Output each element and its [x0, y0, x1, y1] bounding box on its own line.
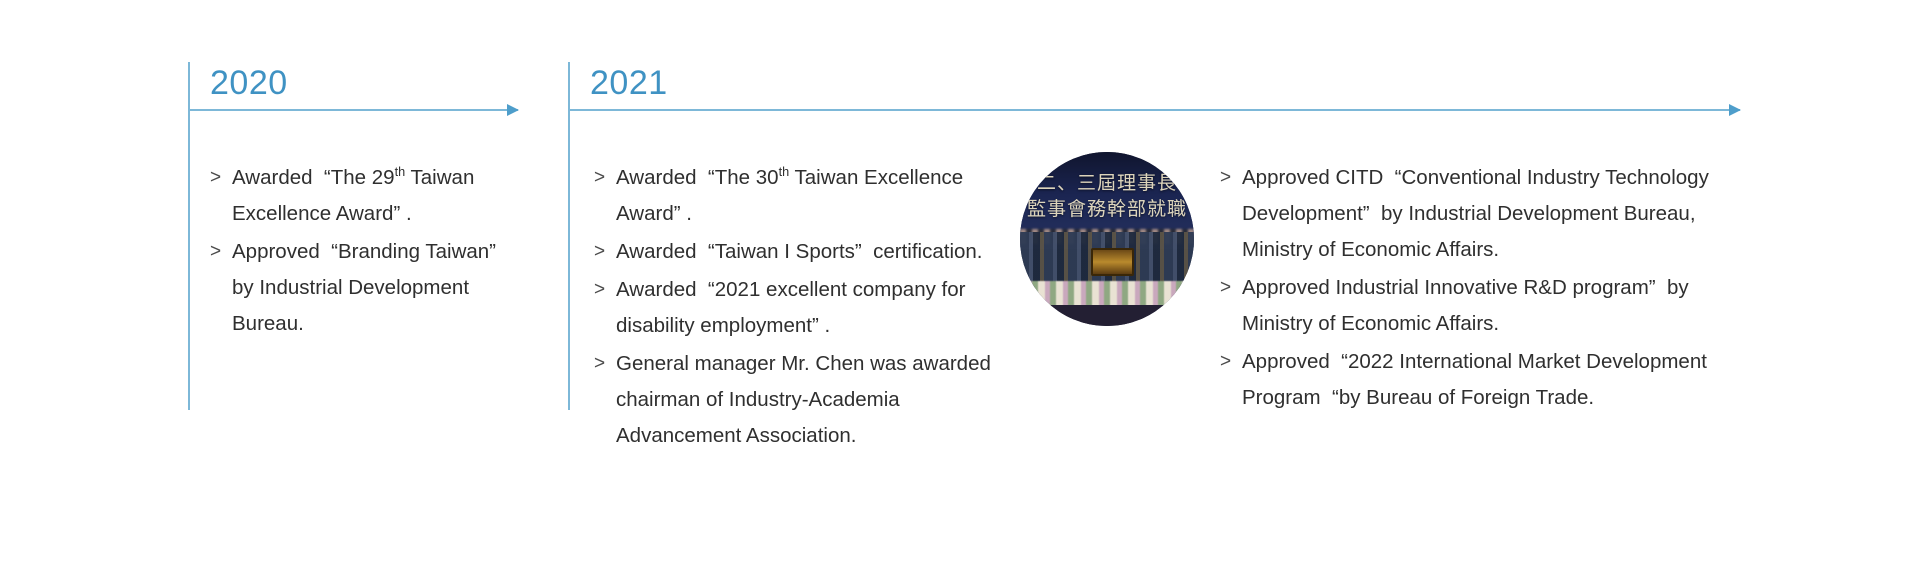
- list-item-text-pre: Awarded “The 30: [616, 166, 779, 189]
- award-ceremony-photo: 二、三屆理事長 監事會務幹部就職: [1020, 152, 1194, 326]
- ordinal-suffix: th: [395, 164, 406, 179]
- list-item: > General manager Mr. Chen was awarded c…: [594, 346, 1014, 454]
- list-item-label: Awarded “Taiwan I Sports” certification.: [616, 234, 1014, 270]
- timeline-axis-2020: [188, 109, 518, 111]
- chevron-right-icon: >: [1220, 270, 1242, 306]
- chevron-right-icon: >: [1220, 344, 1242, 380]
- arrow-right-icon: [1729, 104, 1741, 116]
- chevron-right-icon: >: [594, 272, 616, 308]
- list-item-label: Awarded “The 30th Taiwan Excellence Awar…: [616, 160, 1014, 232]
- list-item: > Approved “Branding Taiwan” by Industri…: [210, 234, 510, 342]
- vertical-rule-2020: [188, 62, 190, 410]
- photo-award-plaque: [1091, 248, 1133, 276]
- milestones-timeline: 2020 > Awarded “The 29th Taiwan Excellen…: [0, 0, 1920, 562]
- list-item-label: Approved Industrial Innovative R&D progr…: [1242, 270, 1760, 342]
- list-item-label: Approved “Branding Taiwan” by Industrial…: [232, 234, 510, 342]
- chevron-right-icon: >: [1220, 160, 1242, 196]
- year-label-2020: 2020: [210, 66, 288, 100]
- timeline-axis-2021: [568, 109, 1740, 111]
- list-item: > Awarded “The 30th Taiwan Excellence Aw…: [594, 160, 1014, 232]
- photo-flower-row: [1020, 281, 1194, 307]
- list-item-label: General manager Mr. Chen was awarded cha…: [616, 346, 1014, 454]
- list-item-label: Approved CITD “Conventional Industry Tec…: [1242, 160, 1760, 268]
- chevron-right-icon: >: [210, 160, 232, 196]
- chevron-right-icon: >: [210, 234, 232, 270]
- list-item-label: Awarded “The 29th Taiwan Excellence Awar…: [232, 160, 510, 232]
- list-item-label: Awarded “2021 excellent company for disa…: [616, 272, 1014, 344]
- photo-banner-line-2: 監事會務幹部就職: [1020, 197, 1194, 223]
- chevron-right-icon: >: [594, 346, 616, 382]
- list-item-text-pre: Awarded “The 29: [232, 166, 395, 189]
- list-item-label: Approved “2022 International Market Deve…: [1242, 344, 1760, 416]
- vertical-rule-2021: [568, 62, 570, 410]
- photo-banner-line-1: 二、三屆理事長: [1020, 171, 1194, 197]
- bullet-list-2021-left: > Awarded “The 30th Taiwan Excellence Aw…: [594, 160, 1014, 456]
- list-item: > Awarded “2021 excellent company for di…: [594, 272, 1014, 344]
- photo-stage-front: [1020, 305, 1194, 326]
- chevron-right-icon: >: [594, 234, 616, 270]
- list-item: > Approved CITD “Conventional Industry T…: [1220, 160, 1760, 268]
- bullet-list-2020: > Awarded “The 29th Taiwan Excellence Aw…: [210, 160, 510, 344]
- list-item: > Awarded “The 29th Taiwan Excellence Aw…: [210, 160, 510, 232]
- ordinal-suffix: th: [779, 164, 790, 179]
- arrow-right-icon: [507, 104, 519, 116]
- list-item: > Awarded “Taiwan I Sports” certificatio…: [594, 234, 1014, 270]
- year-label-2021: 2021: [590, 66, 668, 100]
- chevron-right-icon: >: [594, 160, 616, 196]
- list-item: > Approved “2022 International Market De…: [1220, 344, 1760, 416]
- list-item: > Approved Industrial Innovative R&D pro…: [1220, 270, 1760, 342]
- bullet-list-2021-right: > Approved CITD “Conventional Industry T…: [1220, 160, 1760, 418]
